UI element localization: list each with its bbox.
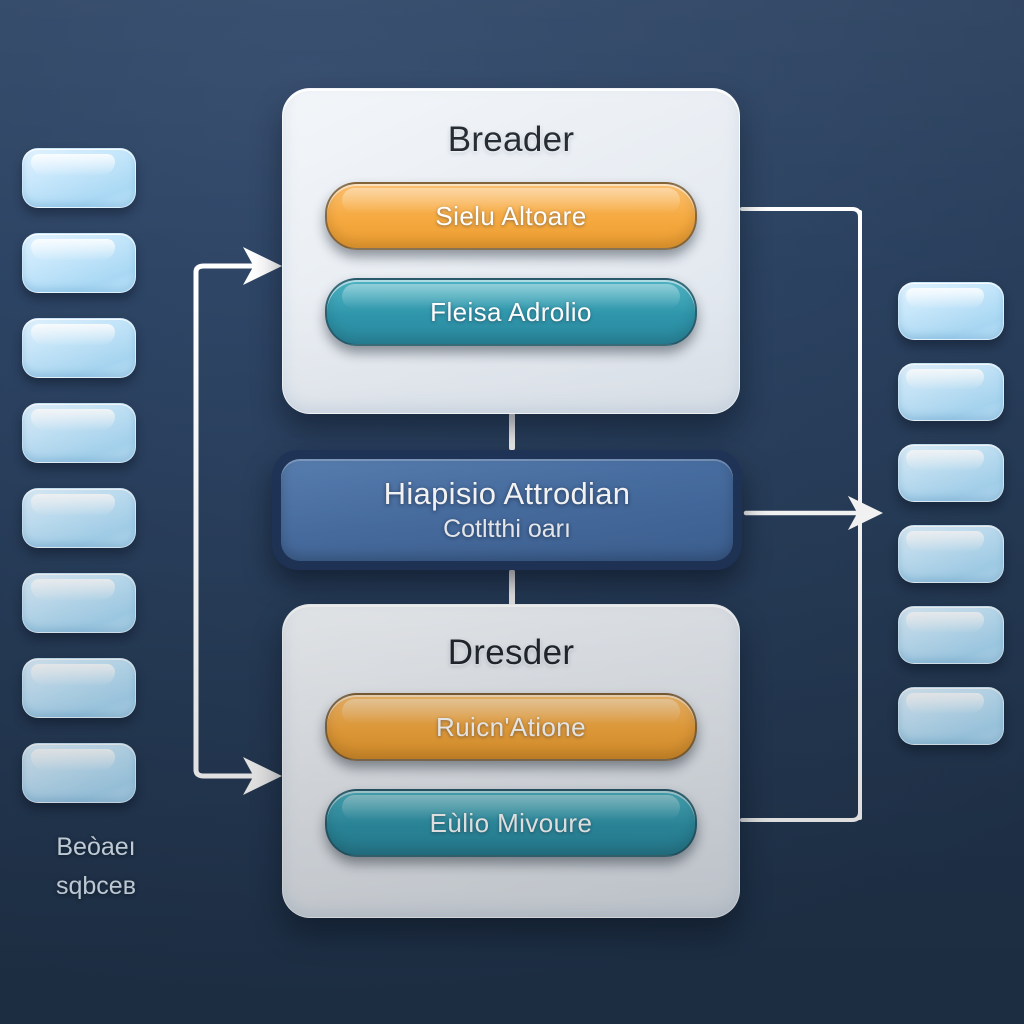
left-arrow-top xyxy=(196,266,272,272)
list-item[interactable] xyxy=(898,363,1004,421)
page-title: Dresder xyxy=(283,605,739,673)
right-wire-from-top-card xyxy=(742,209,860,217)
right-wire-from-bottom-card xyxy=(742,812,860,820)
card-dresder[interactable]: Dresder Ruicn'Atione Eùlio Mivoure xyxy=(282,604,740,918)
list-item[interactable] xyxy=(22,148,136,208)
list-item[interactable] xyxy=(898,525,1004,583)
pill-label: Ruicn'Atione xyxy=(436,712,586,743)
card-breader[interactable]: Breader Sielu Altoare Fleisa Adrolio xyxy=(282,88,740,414)
pill-button-ruicn-atione[interactable]: Ruicn'Atione xyxy=(325,693,697,761)
list-item[interactable] xyxy=(22,573,136,633)
list-item[interactable] xyxy=(22,488,136,548)
output-token-column xyxy=(898,282,1004,745)
list-item[interactable] xyxy=(898,606,1004,664)
pill-button-fleisa-adrolio[interactable]: Fleisa Adrolio xyxy=(325,278,697,346)
middle-title: Hiapisio Attrodian xyxy=(384,476,631,512)
list-item[interactable] xyxy=(898,444,1004,502)
list-item[interactable] xyxy=(22,403,136,463)
list-item[interactable] xyxy=(22,233,136,293)
pill-label: Fleisa Adrolio xyxy=(430,297,592,328)
pill-button-eulio-mivoure[interactable]: Eùlio Mivoure xyxy=(325,789,697,857)
pill-label: Eùlio Mivoure xyxy=(430,808,593,839)
list-item[interactable] xyxy=(898,282,1004,340)
pill-label: Sielu Altoare xyxy=(435,201,586,232)
middle-subtitle: Cotltthi oarı xyxy=(443,515,571,544)
list-item[interactable] xyxy=(898,687,1004,745)
page-title: Breader xyxy=(283,89,739,160)
caption-line-1: Beòaeı xyxy=(16,828,176,867)
left-arrow-bottom xyxy=(196,770,272,776)
middle-panel-inner: Hiapisio Attrodian Cotltthi oarı xyxy=(281,459,733,561)
caption-line-2: sqbceʙ xyxy=(16,867,176,906)
list-item[interactable] xyxy=(22,658,136,718)
list-item[interactable] xyxy=(22,318,136,378)
input-token-column xyxy=(22,148,136,803)
list-item[interactable] xyxy=(22,743,136,803)
pill-button-sielu-altoare[interactable]: Sielu Altoare xyxy=(325,182,697,250)
left-column-caption: Beòaeı sqbceʙ xyxy=(16,828,176,906)
card-hiapisio-attrodian[interactable]: Hiapisio Attrodian Cotltthi oarı xyxy=(272,450,742,570)
diagram-canvas: Beòaeı sqbceʙ Breader Sielu Altoare Flei… xyxy=(0,0,1024,1024)
